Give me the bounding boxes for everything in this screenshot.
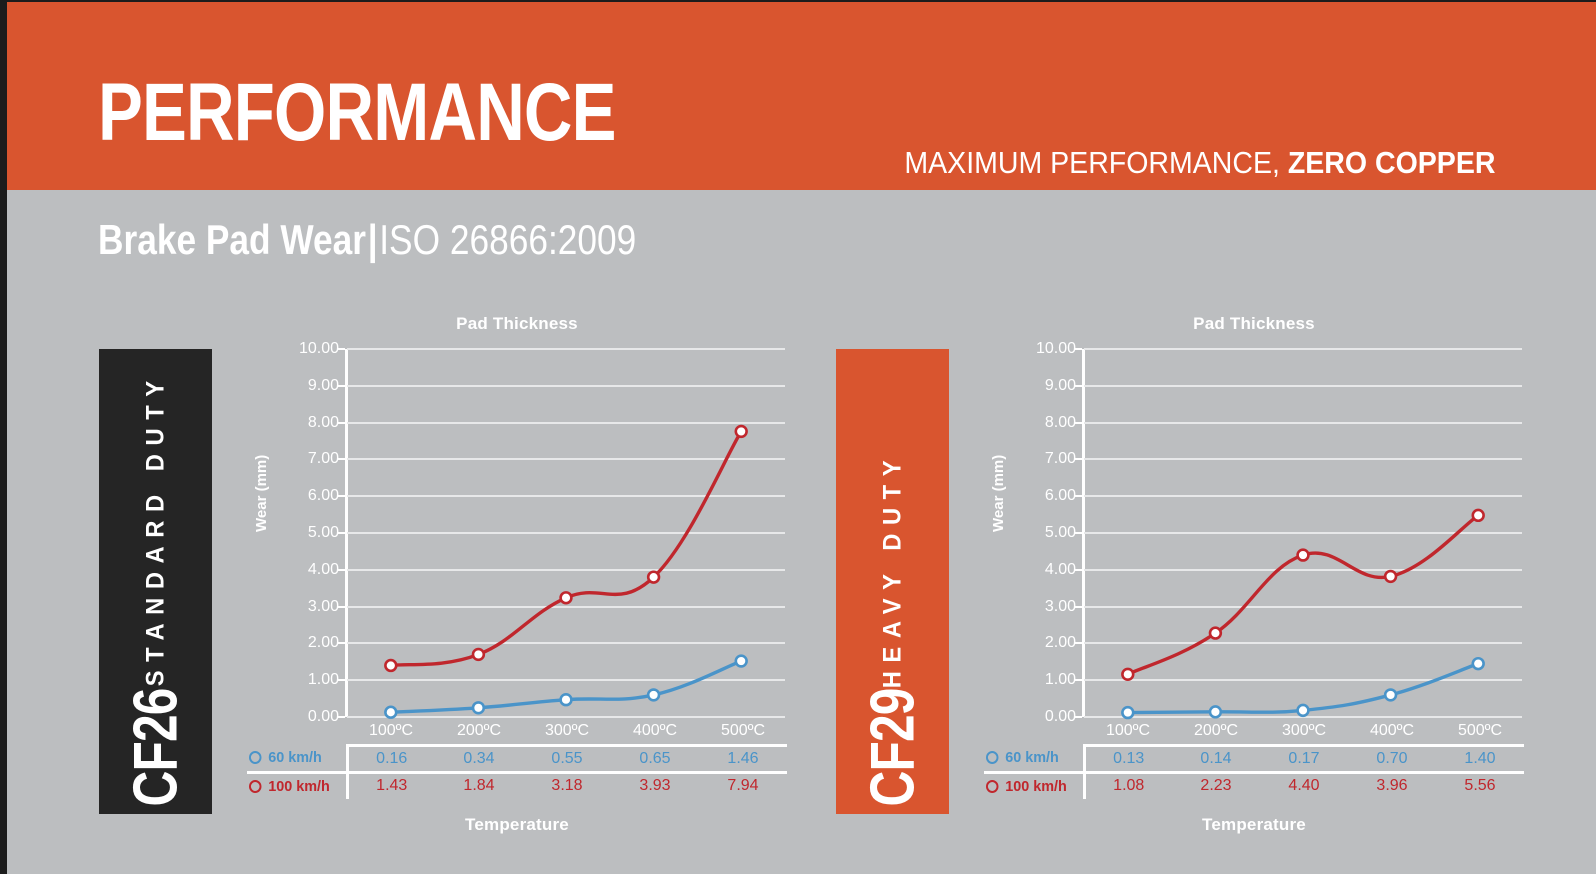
- column-header-300c: 300ºC: [1260, 718, 1348, 745]
- column-header-200c: 200ºC: [435, 718, 523, 745]
- chart-title-cf29: Pad Thickness: [984, 314, 1524, 334]
- y-axis-tick-label: 7.00: [263, 450, 339, 468]
- legend-row-label[interactable]: 100 km/h: [984, 772, 1084, 799]
- y-axis-tick-label: 1.00: [1000, 671, 1076, 689]
- product-badge-cf29: CF29 HEAVY DUTY: [836, 349, 949, 814]
- table-cell-value: 2.23: [1172, 772, 1260, 799]
- table-cell-value: 1.43: [347, 772, 435, 799]
- data-point[interactable]: [473, 702, 484, 713]
- legend-label-text: 100 km/h: [268, 778, 330, 795]
- data-point[interactable]: [1210, 628, 1221, 639]
- plot-area-cf29: 0.001.002.003.004.005.006.007.008.009.00…: [1084, 349, 1522, 717]
- legend-label-text: 60 km/h: [268, 749, 322, 766]
- chart-block-cf26: Pad Thickness Wear (mm) 0.001.002.003.00…: [247, 2, 787, 874]
- legend-label-text: 100 km/h: [1005, 778, 1067, 795]
- y-axis-tick-label: 9.00: [1000, 377, 1076, 395]
- column-header-400c: 400ºC: [1348, 718, 1436, 745]
- badge-duty-cf26: STANDARD DUTY: [141, 372, 170, 686]
- table-cell-value: 0.14: [1172, 745, 1260, 772]
- y-axis-tick-label: 6.00: [263, 487, 339, 505]
- table-cell-value: 1.84: [435, 772, 523, 799]
- table-cell-value: 3.96: [1348, 772, 1436, 799]
- data-point[interactable]: [1298, 550, 1309, 561]
- y-axis-tick-label: 5.00: [263, 524, 339, 542]
- table-header-row: 100ºC200ºC300ºC400ºC500ºC: [984, 718, 1524, 745]
- table-cell-value: 7.94: [699, 772, 787, 799]
- y-axis-tick-mark: [1075, 532, 1082, 534]
- legend-row-label[interactable]: 60 km/h: [984, 745, 1084, 772]
- column-header-200c: 200ºC: [1172, 718, 1260, 745]
- legend-row-label[interactable]: 100 km/h: [247, 772, 347, 799]
- data-point[interactable]: [473, 649, 484, 660]
- data-point[interactable]: [736, 426, 747, 437]
- y-axis-tick-label: 2.00: [263, 634, 339, 652]
- y-axis-tick-label: 7.00: [1000, 450, 1076, 468]
- y-axis-tick-mark: [338, 348, 345, 350]
- y-axis-tick-mark: [1075, 385, 1082, 387]
- y-axis-tick-mark: [338, 679, 345, 681]
- poster-canvas: PERFORMANCE MAXIMUM PERFORMANCE, ZERO CO…: [0, 0, 1596, 874]
- data-point[interactable]: [385, 660, 396, 671]
- table-row: 60 km/h0.160.340.550.651.46: [247, 745, 787, 772]
- data-point[interactable]: [1473, 510, 1484, 521]
- table-header-row: 100ºC200ºC300ºC400ºC500ºC: [247, 718, 787, 745]
- table-cell-value: 4.40: [1260, 772, 1348, 799]
- table-row: 60 km/h0.130.140.170.701.40: [984, 745, 1524, 772]
- y-axis-tick-mark: [338, 569, 345, 571]
- legend-marker-circle-icon: [986, 751, 998, 764]
- table-cell-value: 0.13: [1084, 745, 1172, 772]
- y-axis-tick-label: 8.00: [263, 414, 339, 432]
- data-point[interactable]: [1298, 705, 1309, 716]
- y-axis-tick-mark: [338, 532, 345, 534]
- x-axis-label-cf29: Temperature: [984, 815, 1524, 835]
- legend-marker-circle-icon: [249, 780, 261, 793]
- data-point[interactable]: [1122, 669, 1133, 680]
- column-header-400c: 400ºC: [611, 718, 699, 745]
- table-cell-value: 1.46: [699, 745, 787, 772]
- data-point[interactable]: [561, 694, 572, 705]
- data-point[interactable]: [1210, 706, 1221, 717]
- y-axis-tick-label: 1.00: [263, 671, 339, 689]
- legend-marker-circle-icon: [249, 751, 261, 764]
- y-axis-tick-mark: [1075, 679, 1082, 681]
- plot-area-cf26: 0.001.002.003.004.005.006.007.008.009.00…: [347, 349, 785, 717]
- table-row: 100 km/h1.431.843.183.937.94: [247, 772, 787, 799]
- column-header-100c: 100ºC: [347, 718, 435, 745]
- y-axis-tick-mark: [338, 606, 345, 608]
- chart-block-cf29: Pad Thickness Wear (mm) 0.001.002.003.00…: [984, 2, 1524, 874]
- data-point[interactable]: [648, 690, 659, 701]
- data-table-cf26: 100ºC200ºC300ºC400ºC500ºC60 km/h0.160.34…: [247, 718, 787, 804]
- table-cell-value: 0.16: [347, 745, 435, 772]
- y-axis-tick-label: 3.00: [1000, 598, 1076, 616]
- badge-code-cf26: CF26: [125, 688, 187, 814]
- column-header-500c: 500ºC: [699, 718, 787, 745]
- column-header-500c: 500ºC: [1436, 718, 1524, 745]
- series-canvas: [1084, 349, 1522, 717]
- y-axis-tick-label: 4.00: [263, 561, 339, 579]
- y-axis-tick-mark: [1075, 458, 1082, 460]
- badge-code-cf29: CF29: [862, 688, 924, 814]
- y-axis-tick-label: 9.00: [263, 377, 339, 395]
- x-axis-label-cf26: Temperature: [247, 815, 787, 835]
- data-point[interactable]: [1473, 658, 1484, 669]
- y-axis-tick-mark: [1075, 569, 1082, 571]
- table-cell-value: 5.56: [1436, 772, 1524, 799]
- table-cell-value: 0.55: [523, 745, 611, 772]
- y-axis-tick-mark: [338, 495, 345, 497]
- data-point[interactable]: [1385, 571, 1396, 582]
- badge-duty-cf29: HEAVY DUTY: [878, 452, 907, 688]
- y-axis-tick-label: 10.00: [263, 340, 339, 358]
- data-table-cf29: 100ºC200ºC300ºC400ºC500ºC60 km/h0.130.14…: [984, 718, 1524, 804]
- y-axis-tick-mark: [1075, 642, 1082, 644]
- legend-label-text: 60 km/h: [1005, 749, 1059, 766]
- y-axis-tick-label: 10.00: [1000, 340, 1076, 358]
- product-badge-cf26: CF26 STANDARD DUTY: [99, 349, 212, 814]
- data-point[interactable]: [736, 656, 747, 667]
- data-point[interactable]: [1385, 690, 1396, 701]
- data-point[interactable]: [561, 592, 572, 603]
- y-axis-tick-mark: [338, 422, 345, 424]
- y-axis-tick-label: 8.00: [1000, 414, 1076, 432]
- table-corner-cell: [247, 718, 347, 745]
- table-cell-value: 1.08: [1084, 772, 1172, 799]
- y-axis-tick-mark: [338, 642, 345, 644]
- series-canvas: [347, 349, 785, 717]
- column-header-100c: 100ºC: [1084, 718, 1172, 745]
- table-cell-value: 0.70: [1348, 745, 1436, 772]
- series-line-100-km-h: [1128, 515, 1478, 674]
- y-axis-tick-label: 6.00: [1000, 487, 1076, 505]
- y-axis-tick-mark: [338, 385, 345, 387]
- y-axis-tick-mark: [1075, 606, 1082, 608]
- table-corner-cell: [984, 718, 1084, 745]
- table-cell-value: 3.93: [611, 772, 699, 799]
- data-point[interactable]: [1122, 707, 1133, 718]
- series-line-100-km-h: [391, 431, 741, 665]
- chart-title-cf26: Pad Thickness: [247, 314, 787, 334]
- table-cell-value: 3.18: [523, 772, 611, 799]
- y-axis-tick-label: 5.00: [1000, 524, 1076, 542]
- y-axis-tick-mark: [1075, 348, 1082, 350]
- table-cell-value: 1.40: [1436, 745, 1524, 772]
- data-point[interactable]: [648, 572, 659, 583]
- y-axis-tick-mark: [338, 458, 345, 460]
- legend-row-label[interactable]: 60 km/h: [247, 745, 347, 772]
- table-cell-value: 0.17: [1260, 745, 1348, 772]
- y-axis-tick-label: 3.00: [263, 598, 339, 616]
- legend-marker-circle-icon: [986, 780, 998, 793]
- column-header-300c: 300ºC: [523, 718, 611, 745]
- y-axis-tick-mark: [1075, 422, 1082, 424]
- data-point[interactable]: [385, 707, 396, 718]
- y-axis-tick-label: 2.00: [1000, 634, 1076, 652]
- y-axis-tick-mark: [1075, 495, 1082, 497]
- table-cell-value: 0.34: [435, 745, 523, 772]
- table-row: 100 km/h1.082.234.403.965.56: [984, 772, 1524, 799]
- table-cell-value: 0.65: [611, 745, 699, 772]
- y-axis-tick-label: 4.00: [1000, 561, 1076, 579]
